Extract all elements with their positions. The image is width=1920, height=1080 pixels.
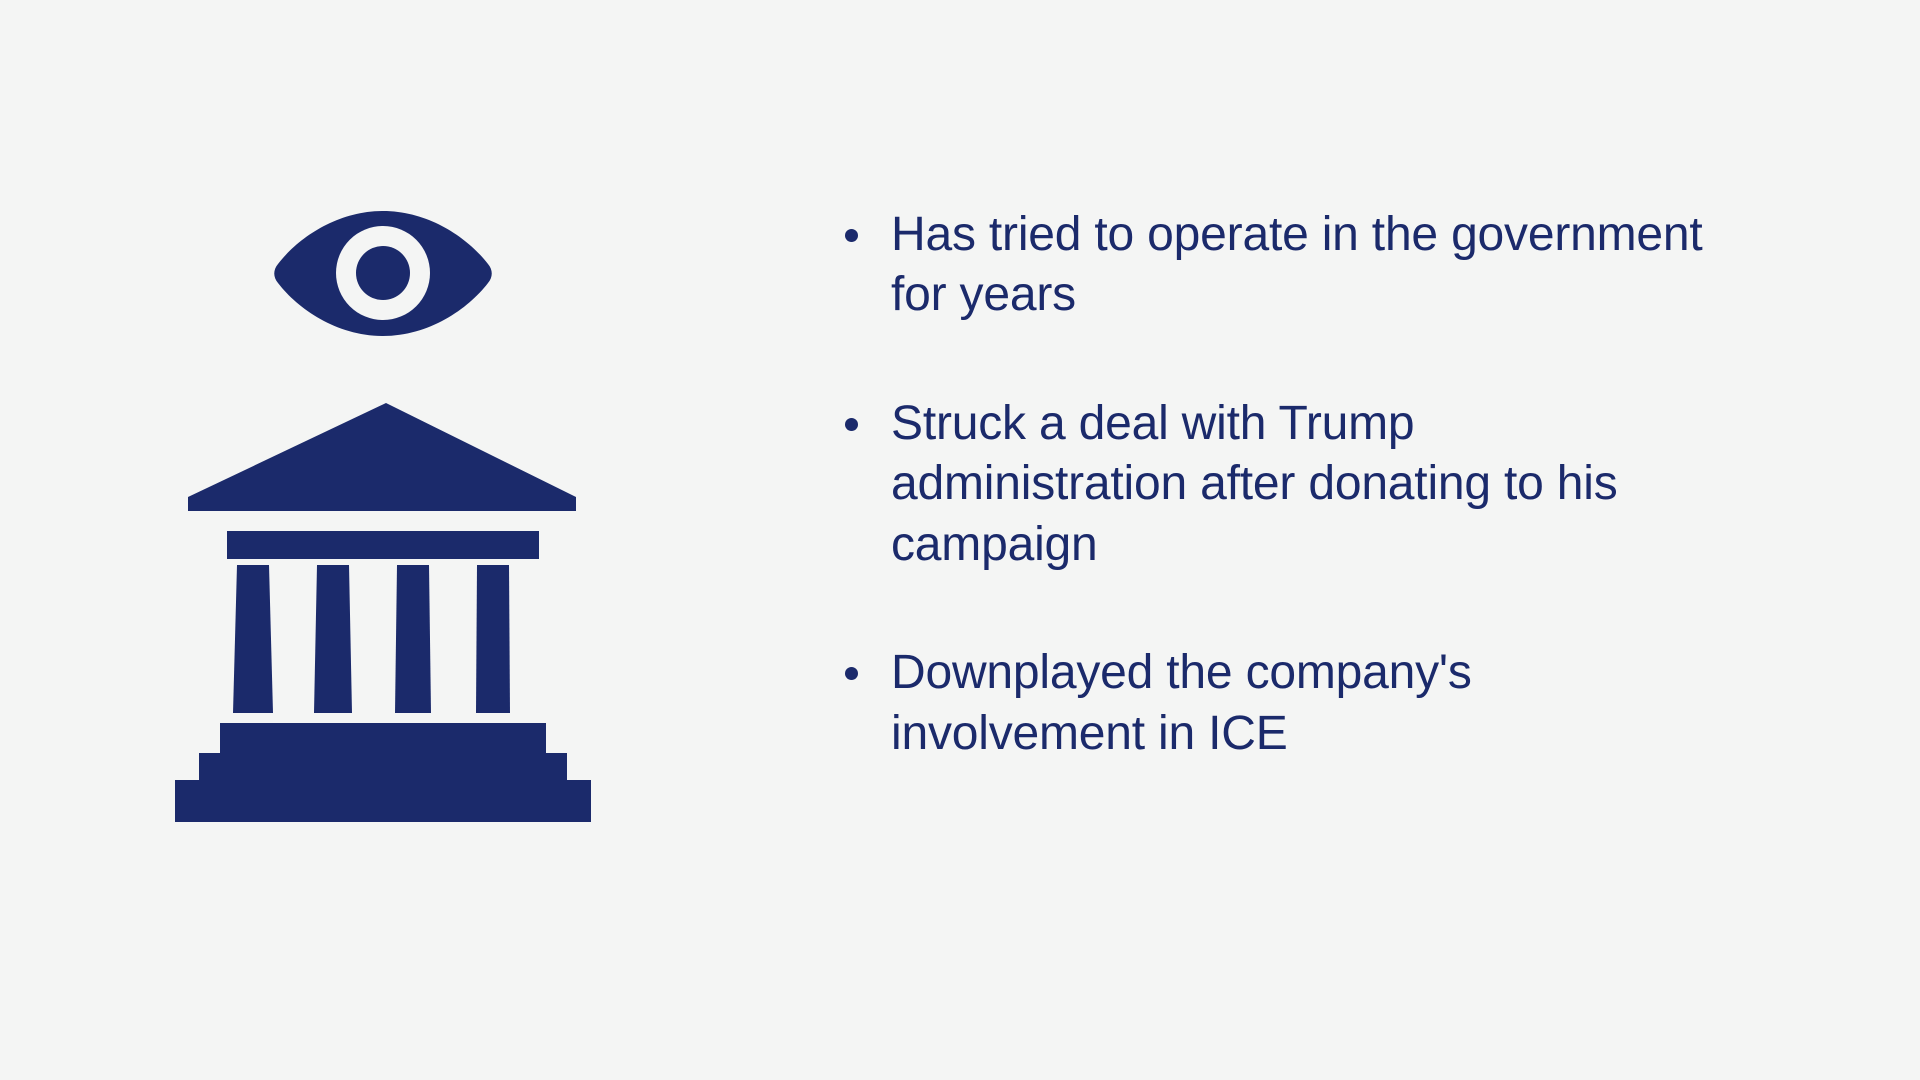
bullet-marker bbox=[845, 394, 891, 431]
bullet-marker bbox=[845, 643, 891, 680]
eye-icon bbox=[274, 211, 492, 336]
list-item: Struck a deal with Trump administration … bbox=[845, 394, 1725, 575]
building-architrave-icon bbox=[227, 531, 539, 559]
bullet-dot-icon bbox=[845, 667, 858, 680]
building-column-icon bbox=[476, 565, 510, 713]
building-column-icon bbox=[395, 565, 431, 713]
government-surveillance-icon bbox=[165, 140, 645, 900]
bullet-list: Has tried to operate in the government f… bbox=[845, 205, 1725, 764]
bullet-text: Downplayed the company's involvement in … bbox=[891, 643, 1711, 764]
bullet-marker bbox=[845, 205, 891, 242]
bullet-text: Struck a deal with Trump administration … bbox=[891, 394, 1711, 575]
building-base-step-bottom-icon bbox=[175, 780, 591, 822]
building-column-icon bbox=[314, 565, 352, 713]
building-roof-icon bbox=[188, 403, 576, 511]
list-item: Has tried to operate in the government f… bbox=[845, 205, 1725, 326]
bullet-dot-icon bbox=[845, 418, 858, 431]
slide-root: Has tried to operate in the government f… bbox=[0, 0, 1920, 1080]
classical-building-icon bbox=[175, 403, 591, 822]
bullet-dot-icon bbox=[845, 229, 858, 242]
building-column-icon bbox=[233, 565, 273, 713]
bullet-text: Has tried to operate in the government f… bbox=[891, 205, 1711, 326]
icon-svg bbox=[165, 140, 645, 900]
list-item: Downplayed the company's involvement in … bbox=[845, 643, 1725, 764]
